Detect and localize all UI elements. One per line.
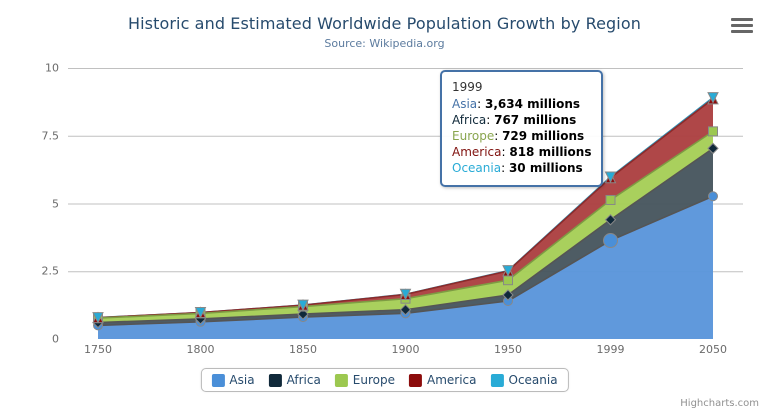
- highcharts-container: Historic and Estimated Worldwide Populat…: [0, 0, 769, 416]
- credits-link[interactable]: Highcharts.com: [680, 398, 759, 409]
- point-marker-asia[interactable]: [709, 192, 718, 201]
- legend-swatch-icon: [409, 374, 422, 387]
- point-marker-europe[interactable]: [606, 195, 615, 204]
- tooltip-header: 1999: [452, 80, 591, 94]
- point-marker-europe[interactable]: [709, 127, 718, 136]
- chart-plot-svg: [68, 68, 743, 339]
- hamburger-bar-1: [731, 18, 753, 21]
- tooltip-series-name: Asia: [452, 97, 477, 111]
- x-axis-tick-label: 1850: [289, 343, 317, 356]
- tooltip-series-name: America: [452, 145, 502, 159]
- tooltip-separator: :: [494, 129, 502, 143]
- tooltip-series-name: Africa: [452, 113, 486, 127]
- tooltip-series-value: 818 millions: [509, 145, 591, 159]
- tooltip-separator: :: [477, 97, 485, 111]
- tooltip-row: Africa: 767 millions: [452, 112, 591, 128]
- legend-label: America: [427, 373, 477, 387]
- y-axis-tick-label: 7.5: [7, 129, 59, 142]
- series-tooltip: 1999 Asia: 3,634 millionsAfrica: 767 mil…: [440, 70, 603, 187]
- legend-label: Asia: [229, 373, 254, 387]
- x-axis-tick-label: 1750: [84, 343, 112, 356]
- tooltip-row: America: 818 millions: [452, 144, 591, 160]
- tooltip-rows: Asia: 3,634 millionsAfrica: 767 millions…: [452, 96, 591, 176]
- chart-title: Historic and Estimated Worldwide Populat…: [0, 14, 769, 33]
- legend-item-europe[interactable]: Europe: [335, 373, 395, 387]
- legend-label: Africa: [287, 373, 321, 387]
- x-axis-tick-label: 2050: [699, 343, 727, 356]
- point-marker-europe[interactable]: [504, 276, 513, 285]
- legend-item-oceania[interactable]: Oceania: [491, 373, 558, 387]
- legend-swatch-icon: [491, 374, 504, 387]
- hamburger-bar-2: [731, 24, 753, 27]
- legend-item-asia[interactable]: Asia: [211, 373, 254, 387]
- tooltip-row: Oceania: 30 millions: [452, 160, 591, 176]
- legend-label: Europe: [353, 373, 395, 387]
- y-axis-tick-label: 0: [7, 333, 59, 346]
- legend-item-america[interactable]: America: [409, 373, 477, 387]
- tooltip-row: Asia: 3,634 millions: [452, 96, 591, 112]
- legend-swatch-icon: [211, 374, 224, 387]
- tooltip-series-value: 3,634 millions: [485, 97, 580, 111]
- legend-swatch-icon: [269, 374, 282, 387]
- hamburger-bar-3: [731, 30, 753, 33]
- point-marker-asia[interactable]: [604, 234, 618, 248]
- tooltip-series-value: 767 millions: [494, 113, 576, 127]
- legend-item-africa[interactable]: Africa: [269, 373, 321, 387]
- tooltip-separator: :: [486, 113, 494, 127]
- x-axis-tick-label: 1999: [597, 343, 625, 356]
- legend-swatch-icon: [335, 374, 348, 387]
- tooltip-separator: :: [501, 161, 509, 175]
- x-axis-tick-label: 1900: [392, 343, 420, 356]
- x-axis-tick-label: 1800: [187, 343, 215, 356]
- x-axis-tick-label: 1950: [494, 343, 522, 356]
- tooltip-series-value: 30 millions: [509, 161, 583, 175]
- y-axis-tick-label: 5: [7, 197, 59, 210]
- tooltip-series-name: Europe: [452, 129, 494, 143]
- plot-area: [68, 68, 743, 339]
- y-axis-tick-label: 2.5: [7, 265, 59, 278]
- hamburger-menu-icon[interactable]: [731, 16, 753, 34]
- tooltip-series-value: 729 millions: [502, 129, 584, 143]
- chart-subtitle: Source: Wikipedia.org: [0, 37, 769, 50]
- tooltip-row: Europe: 729 millions: [452, 128, 591, 144]
- legend-label: Oceania: [509, 373, 558, 387]
- chart-legend[interactable]: AsiaAfricaEuropeAmericaOceania: [200, 368, 568, 392]
- y-axis-tick-label: 10: [7, 62, 59, 75]
- tooltip-series-name: Oceania: [452, 161, 501, 175]
